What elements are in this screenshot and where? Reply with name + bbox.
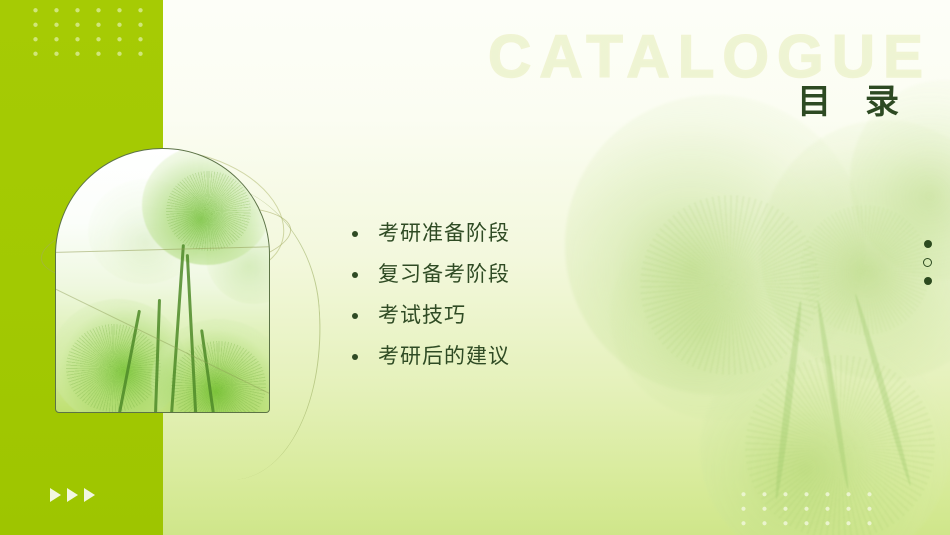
pager-dot-2[interactable] <box>923 258 932 267</box>
bullet-icon <box>352 231 358 237</box>
bullet-icon <box>352 313 358 319</box>
lotus-stem <box>853 293 914 487</box>
lotus-stem <box>773 300 804 499</box>
bullet-icon <box>352 354 358 360</box>
list-item[interactable]: 考试技巧 <box>352 304 682 327</box>
table-of-contents-list: 考研准备阶段 复习备考阶段 考试技巧 考研后的建议 <box>352 222 682 386</box>
list-item[interactable]: 复习备考阶段 <box>352 263 682 286</box>
dot-grid-icon <box>25 3 153 63</box>
pagination-indicator[interactable] <box>923 240 932 285</box>
bullet-icon <box>352 272 358 278</box>
list-item[interactable]: 考研后的建议 <box>352 345 682 368</box>
dot-grid-icon <box>733 487 883 532</box>
pager-dot-3[interactable] <box>924 277 932 285</box>
page-title: 目 录 <box>797 74 910 123</box>
arrow-marks <box>50 488 95 502</box>
play-arrow-icon <box>67 488 78 502</box>
list-item-label: 考研后的建议 <box>378 345 510 368</box>
list-item[interactable]: 考研准备阶段 <box>352 222 682 245</box>
leaf-vein-texture <box>800 205 930 335</box>
lotus-leaf-icon <box>760 120 950 380</box>
list-item-label: 考试技巧 <box>378 304 466 327</box>
leaf-vein-texture <box>166 171 251 251</box>
lotus-stem <box>815 301 851 490</box>
play-arrow-icon <box>50 488 61 502</box>
leaf-vein-texture <box>66 324 161 412</box>
list-item-label: 复习备考阶段 <box>378 263 510 286</box>
arch-image-frame <box>55 148 270 413</box>
list-item-label: 考研准备阶段 <box>378 222 510 245</box>
pager-dot-1[interactable] <box>924 240 932 248</box>
play-arrow-icon <box>84 488 95 502</box>
slide-catalogue: CATALOGUE 目 录 考研准备阶段 <box>0 0 950 535</box>
